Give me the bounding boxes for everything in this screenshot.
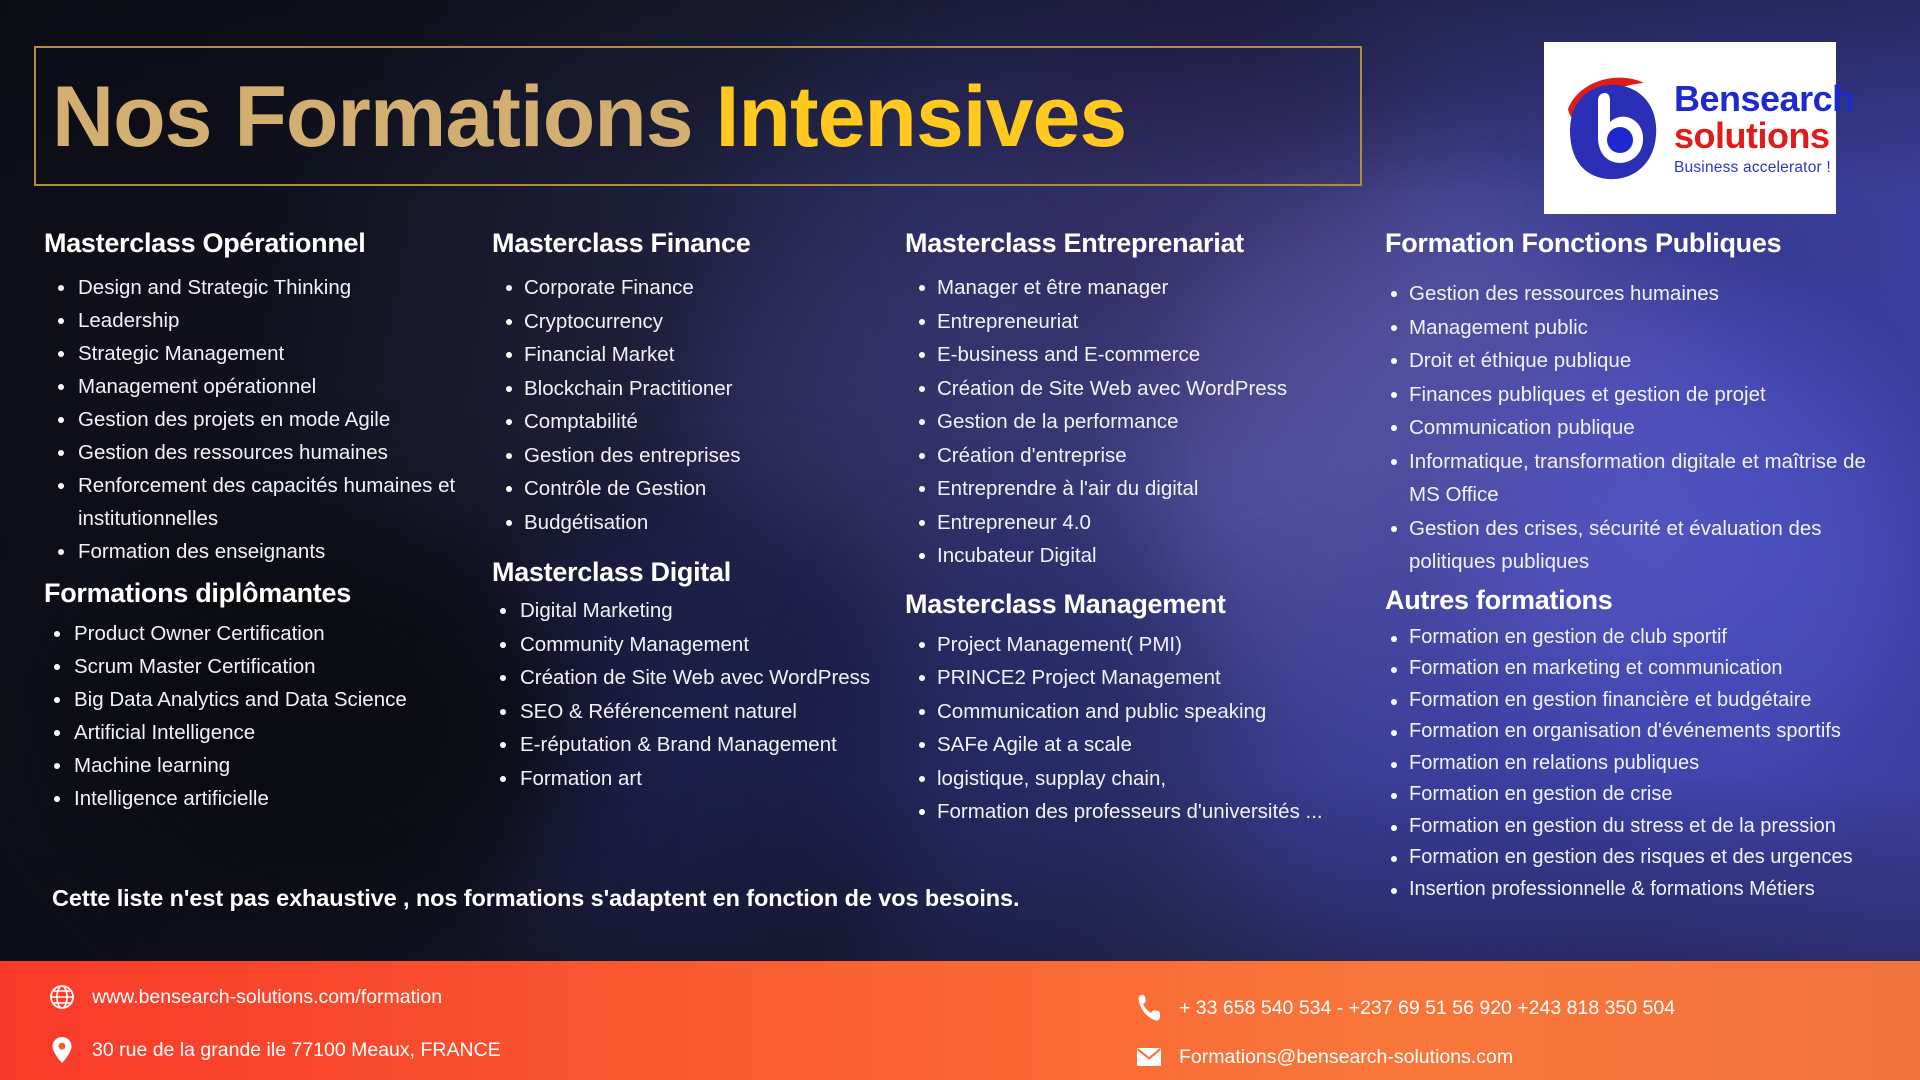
logo-tagline: Business accelerator ! bbox=[1674, 160, 1854, 176]
list-item: Digital Marketing bbox=[492, 594, 912, 628]
list-item: Entrepreneuriat bbox=[905, 305, 1325, 339]
bensearch-logo-icon bbox=[1558, 69, 1666, 187]
list-item: Gestion des projets en mode Agile bbox=[44, 403, 504, 436]
list-item: Strategic Management bbox=[44, 337, 504, 370]
list-item: Finances publiques et gestion de projet bbox=[1385, 378, 1885, 412]
list-item: Gestion des entreprises bbox=[492, 439, 912, 473]
list-item: PRINCE2 Project Management bbox=[905, 661, 1325, 695]
column-fonctions-publiques: Formation Fonctions Publiques Gestion de… bbox=[1385, 228, 1885, 905]
list-item: Design and Strategic Thinking bbox=[44, 271, 504, 304]
column-entreprenariat: Masterclass Entreprenariat Manager et êt… bbox=[905, 228, 1325, 829]
list-item: Leadership bbox=[44, 304, 504, 337]
list-item: Formation en organisation d'événements s… bbox=[1385, 716, 1885, 748]
section-heading: Masterclass Digital bbox=[492, 557, 912, 588]
course-list: Digital Marketing Community Management C… bbox=[492, 594, 912, 795]
footer-email[interactable]: Formations@bensearch-solutions.com bbox=[1135, 1043, 1513, 1071]
list-item: Community Management bbox=[492, 628, 912, 662]
logo-name-line2: solutions bbox=[1674, 118, 1854, 154]
section-heading: Masterclass Finance bbox=[492, 228, 912, 259]
list-item: Formation art bbox=[492, 762, 912, 796]
list-item: Manager et être manager bbox=[905, 271, 1325, 305]
page-title: Nos Formations Intensives bbox=[52, 60, 1126, 175]
list-item: logistique, supplay chain, bbox=[905, 762, 1325, 796]
footer-website-label: www.bensearch-solutions.com/formation bbox=[92, 985, 442, 1009]
list-item: Gestion des ressources humaines bbox=[1385, 277, 1885, 311]
list-item: E-business and E-commerce bbox=[905, 338, 1325, 372]
course-list: Gestion des ressources humaines Manageme… bbox=[1385, 277, 1885, 579]
list-item: Product Owner Certification bbox=[44, 617, 504, 650]
disclaimer-note: Cette liste n'est pas exhaustive , nos f… bbox=[52, 885, 1019, 912]
section-heading: Masterclass Entreprenariat bbox=[905, 228, 1325, 259]
list-item: Blockchain Practitioner bbox=[492, 372, 912, 406]
list-item: Insertion professionnelle & formations M… bbox=[1385, 874, 1885, 906]
course-list: Product Owner Certification Scrum Master… bbox=[44, 617, 504, 815]
page-title-part1: Nos Formations bbox=[52, 69, 716, 165]
envelope-icon bbox=[1135, 1043, 1163, 1071]
course-list: Design and Strategic Thinking Leadership… bbox=[44, 271, 504, 568]
poster-canvas: Nos Formations Intensives Bensearch solu… bbox=[0, 0, 1920, 1080]
list-item: Cryptocurrency bbox=[492, 305, 912, 339]
footer-website[interactable]: www.bensearch-solutions.com/formation bbox=[48, 983, 442, 1011]
list-item: Création d'entreprise bbox=[905, 439, 1325, 473]
page-title-part2: Intensives bbox=[716, 69, 1127, 165]
list-item: SEO & Référencement naturel bbox=[492, 695, 912, 729]
location-pin-icon bbox=[48, 1036, 76, 1064]
list-item: Communication and public speaking bbox=[905, 695, 1325, 729]
list-item: Formation en gestion du stress et de la … bbox=[1385, 811, 1885, 843]
column-finance: Masterclass Finance Corporate Finance Cr… bbox=[492, 228, 912, 795]
footer-phone[interactable]: + 33 658 540 534 - +237 69 51 56 920 +24… bbox=[1135, 994, 1675, 1022]
course-list: Manager et être manager Entrepreneuriat … bbox=[905, 271, 1325, 573]
section-heading: Formations diplômantes bbox=[44, 578, 504, 609]
list-item: Management public bbox=[1385, 311, 1885, 345]
footer-phone-label: + 33 658 540 534 - +237 69 51 56 920 +24… bbox=[1179, 996, 1675, 1020]
section-heading: Autres formations bbox=[1385, 585, 1885, 616]
section-heading: Masterclass Opérationnel bbox=[44, 228, 504, 259]
list-item: Formation des enseignants bbox=[44, 535, 504, 568]
globe-icon bbox=[48, 983, 76, 1011]
list-item: Informatique, transformation digitale et… bbox=[1385, 445, 1885, 512]
list-item: Droit et éthique publique bbox=[1385, 344, 1885, 378]
phone-icon bbox=[1135, 994, 1163, 1022]
list-item: Corporate Finance bbox=[492, 271, 912, 305]
course-list: Formation en gestion de club sportif For… bbox=[1385, 622, 1885, 906]
section-heading: Formation Fonctions Publiques bbox=[1385, 228, 1885, 259]
list-item: Artificial Intelligence bbox=[44, 716, 504, 749]
logo-name-line1: Bensearch bbox=[1674, 81, 1854, 117]
list-item: Contrôle de Gestion bbox=[492, 472, 912, 506]
footer-email-label: Formations@bensearch-solutions.com bbox=[1179, 1045, 1513, 1069]
list-item: Création de Site Web avec WordPress bbox=[492, 661, 912, 695]
list-item: Budgétisation bbox=[492, 506, 912, 540]
list-item: Renforcement des capacités humaines et i… bbox=[44, 469, 504, 535]
list-item: Formation en gestion de club sportif bbox=[1385, 622, 1885, 654]
course-list: Project Management( PMI) PRINCE2 Project… bbox=[905, 628, 1325, 829]
list-item: Formation en gestion financière et budgé… bbox=[1385, 685, 1885, 717]
list-item: Communication publique bbox=[1385, 411, 1885, 445]
column-operationnel: Masterclass Opérationnel Design and Stra… bbox=[44, 228, 504, 815]
list-item: Entreprendre à l'air du digital bbox=[905, 472, 1325, 506]
list-item: Comptabilité bbox=[492, 405, 912, 439]
list-item: Machine learning bbox=[44, 749, 504, 782]
list-item: Formation en gestion de crise bbox=[1385, 779, 1885, 811]
list-item: Gestion des ressources humaines bbox=[44, 436, 504, 469]
list-item: Project Management( PMI) bbox=[905, 628, 1325, 662]
list-item: Formation des professeurs d'universités … bbox=[905, 795, 1325, 829]
brand-logo: Bensearch solutions Business accelerator… bbox=[1544, 42, 1836, 214]
list-item: SAFe Agile at a scale bbox=[905, 728, 1325, 762]
list-item: Formation en gestion des risques et des … bbox=[1385, 842, 1885, 874]
footer-address-label: 30 rue de la grande ile 77100 Meaux, FRA… bbox=[92, 1038, 501, 1062]
list-item: Financial Market bbox=[492, 338, 912, 372]
list-item: Scrum Master Certification bbox=[44, 650, 504, 683]
list-item: Formation en relations publiques bbox=[1385, 748, 1885, 780]
footer-address: 30 rue de la grande ile 77100 Meaux, FRA… bbox=[48, 1036, 501, 1064]
list-item: Intelligence artificielle bbox=[44, 782, 504, 815]
list-item: Management opérationnel bbox=[44, 370, 504, 403]
contact-footer: www.bensearch-solutions.com/formation 30… bbox=[0, 961, 1920, 1080]
list-item: E-réputation & Brand Management bbox=[492, 728, 912, 762]
list-item: Entrepreneur 4.0 bbox=[905, 506, 1325, 540]
list-item: Gestion de la performance bbox=[905, 405, 1325, 439]
list-item: Incubateur Digital bbox=[905, 539, 1325, 573]
list-item: Gestion des crises, sécurité et évaluati… bbox=[1385, 512, 1885, 579]
section-heading: Masterclass Management bbox=[905, 589, 1325, 620]
list-item: Création de Site Web avec WordPress bbox=[905, 372, 1325, 406]
course-list: Corporate Finance Cryptocurrency Financi… bbox=[492, 271, 912, 539]
list-item: Big Data Analytics and Data Science bbox=[44, 683, 504, 716]
list-item: Formation en marketing et communication bbox=[1385, 653, 1885, 685]
